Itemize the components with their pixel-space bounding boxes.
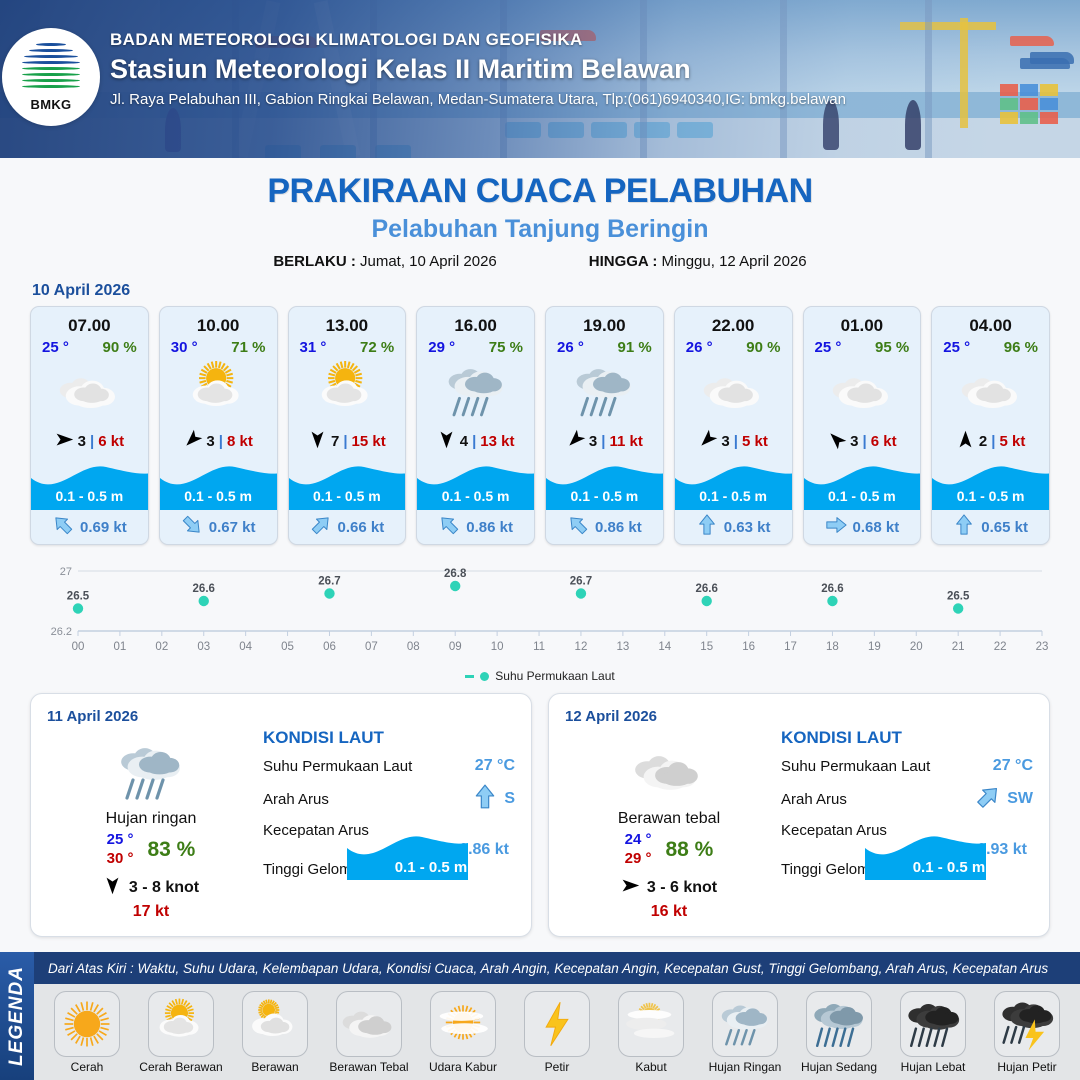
svg-text:22: 22	[994, 641, 1007, 653]
panel-condition: Hujan ringan	[51, 810, 251, 828]
card-humidity: 71 %	[231, 339, 265, 356]
wind-direction-arrow-icon	[956, 430, 975, 453]
card-wind-speed: 2	[979, 433, 987, 450]
daily-panels: 11 April 2026 Hujan ringan 25 ° 30 ° 83 …	[0, 683, 1080, 937]
card-gust: 6 kt	[98, 433, 124, 450]
legend-item-label: Petir	[511, 1060, 603, 1074]
card-temperature: 31 °	[300, 339, 327, 356]
svg-text:11: 11	[533, 641, 545, 653]
panel-wave-graphic	[865, 830, 1033, 886]
legend-item-label: Hujan Petir	[981, 1060, 1073, 1074]
svg-text:14: 14	[658, 641, 671, 653]
legend-item-label: Cerah Berawan	[135, 1060, 227, 1074]
page-subtitle: Pelabuhan Tanjung Beringin	[0, 215, 1080, 244]
page-banner: BMKG BADAN METEOROLOGI KLIMATOLOGI DAN G…	[0, 0, 1080, 158]
legenda-sidebar: LEGENDA	[0, 952, 34, 1080]
forecast-card: 01.00 25 ° 95 % 3 | 6 kt 0.1 - 0.5 m 0.6	[803, 306, 922, 545]
card-current-speed: 0.86 kt	[466, 519, 513, 536]
card-gust: 15 kt	[352, 433, 386, 450]
card-current-speed: 0.86 kt	[595, 519, 642, 536]
chart-legend: Suhu Permukaan Laut	[0, 669, 1080, 683]
panel-current-direction-arrow-icon	[472, 784, 498, 814]
daily-forecast-panel: 12 April 2026 Berawan tebal 24 ° 29 ° 88…	[548, 693, 1050, 937]
card-weather-berawan-icon	[675, 358, 792, 424]
current-direction-arrow-icon	[310, 514, 332, 540]
card-humidity: 95 %	[875, 339, 909, 356]
card-wave: 0.1 - 0.5 m	[417, 460, 534, 510]
svg-text:26.5: 26.5	[947, 591, 970, 603]
legend-kabut-icon	[618, 991, 684, 1057]
legend-footer: LEGENDA Dari Atas Kiri : Waktu, Suhu Uda…	[0, 952, 1080, 1080]
card-time: 01.00	[804, 307, 921, 336]
card-current-speed: 0.67 kt	[209, 519, 256, 536]
card-wind-speed: 4	[460, 433, 468, 450]
legend-udara-kabur-icon	[430, 991, 496, 1057]
svg-text:05: 05	[281, 641, 294, 653]
legend-cerah-berawan-icon	[148, 991, 214, 1057]
card-gust: 5 kt	[742, 433, 768, 450]
current-direction-arrow-icon	[696, 514, 718, 540]
card-weather-cerah-berawan-icon	[160, 358, 277, 424]
card-humidity: 90 %	[103, 339, 137, 356]
sea-condition-title: KONDISI LAUT	[781, 728, 1033, 748]
panel-condition: Berawan tebal	[569, 810, 769, 828]
panel-temp-max: 29 °	[625, 850, 652, 869]
card-temperature: 25 °	[42, 339, 69, 356]
wind-direction-arrow-icon	[437, 430, 456, 453]
card-wave: 0.1 - 0.5 m	[546, 460, 663, 510]
card-temperature: 30 °	[171, 339, 198, 356]
card-weather-berawan-icon	[932, 358, 1049, 424]
panel-date: 11 April 2026	[47, 708, 515, 725]
legend-item-label: Kabut	[605, 1060, 697, 1074]
card-humidity: 91 %	[618, 339, 652, 356]
wind-direction-arrow-icon	[183, 430, 202, 453]
svg-text:16: 16	[742, 641, 755, 653]
svg-text:26.7: 26.7	[570, 576, 592, 588]
legend-item-label: Cerah	[41, 1060, 133, 1074]
card-temperature: 25 °	[815, 339, 842, 356]
card-wave: 0.1 - 0.5 m	[289, 460, 406, 510]
legend-item-label: Hujan Sedang	[793, 1060, 885, 1074]
separator: |	[343, 433, 347, 450]
daily-forecast-panel: 11 April 2026 Hujan ringan 25 ° 30 ° 83 …	[30, 693, 532, 937]
legend-item: Cerah Berawan	[135, 991, 227, 1074]
panel-humidity: 83 %	[147, 838, 195, 862]
panel-wind-range: 3 - 8 knot	[129, 879, 199, 897]
card-current-speed: 0.65 kt	[981, 519, 1028, 536]
valid-from-label: BERLAKU :	[273, 253, 356, 270]
legend-item-label: Hujan Ringan	[699, 1060, 791, 1074]
forecast-card: 10.00 30 ° 71 % 3 | 8 kt 0.1 - 0.5 m 0.6…	[159, 306, 278, 545]
legend-hujan-petir-icon	[994, 991, 1060, 1057]
panel-wave-height: 0.1 - 0.5 m	[865, 859, 1033, 876]
current-direction-arrow-icon	[953, 514, 975, 540]
legend-item: Udara Kabur	[417, 991, 509, 1074]
legend-item-label: Berawan Tebal	[323, 1060, 415, 1074]
svg-text:18: 18	[826, 641, 839, 653]
legend-berawan-sun-icon	[242, 991, 308, 1057]
valid-from-value: Jumat, 10 April 2026	[360, 253, 497, 270]
panel-weather-berawan-tebal-icon	[569, 736, 769, 808]
card-weather-hujan-ringan-icon	[546, 358, 663, 424]
separator: |	[601, 433, 605, 450]
panel-temp-min: 24 °	[625, 831, 652, 850]
legend-line-icon	[465, 675, 474, 678]
card-wind-speed: 3	[721, 433, 729, 450]
legend-hujan-ringan-icon	[712, 991, 778, 1057]
current-direction-arrow-icon	[52, 514, 74, 540]
card-wave-height: 0.1 - 0.5 m	[804, 488, 921, 504]
card-current-speed: 0.63 kt	[724, 519, 771, 536]
card-time: 19.00	[546, 307, 663, 336]
legend-item: Hujan Sedang	[793, 991, 885, 1074]
card-wind-speed: 3	[850, 433, 858, 450]
wind-direction-arrow-icon	[827, 430, 846, 453]
sea-condition-title: KONDISI LAUT	[263, 728, 515, 748]
svg-text:09: 09	[449, 641, 462, 653]
svg-text:10: 10	[491, 641, 504, 653]
card-time: 16.00	[417, 307, 534, 336]
day1-date: 10 April 2026	[32, 282, 1080, 300]
legend-note: Dari Atas Kiri : Waktu, Suhu Udara, Kele…	[34, 952, 1080, 984]
card-time: 22.00	[675, 307, 792, 336]
valid-from: BERLAKU : Jumat, 10 April 2026	[273, 253, 496, 270]
bmkg-logo: BMKG	[2, 28, 100, 126]
card-weather-hujan-ringan-icon	[417, 358, 534, 424]
wind-direction-arrow-icon	[308, 430, 327, 453]
panel-weather-hujan-ringan-icon	[51, 736, 251, 808]
card-wave-height: 0.1 - 0.5 m	[932, 488, 1049, 504]
svg-text:02: 02	[155, 641, 168, 653]
card-temperature: 26 °	[686, 339, 713, 356]
panel-wind-direction-arrow-icon	[621, 876, 640, 900]
card-gust: 13 kt	[480, 433, 514, 450]
svg-text:21: 21	[952, 641, 965, 653]
legend-item: Hujan Lebat	[887, 991, 979, 1074]
svg-text:26.2: 26.2	[51, 626, 72, 638]
legend-item-label: Hujan Lebat	[887, 1060, 979, 1074]
legend-item-label: Berawan	[229, 1060, 321, 1074]
card-humidity: 75 %	[489, 339, 523, 356]
valid-until-label: HINGGA :	[589, 253, 658, 270]
card-wave: 0.1 - 0.5 m	[160, 460, 277, 510]
svg-text:17: 17	[784, 641, 797, 653]
card-wave-height: 0.1 - 0.5 m	[546, 488, 663, 504]
legend-item: Petir	[511, 991, 603, 1074]
sst-value: 27 °C	[993, 757, 1033, 775]
forecast-card: 07.00 25 ° 90 % 3 | 6 kt 0.1 - 0.5 m 0.6	[30, 306, 149, 545]
svg-text:26.8: 26.8	[444, 568, 467, 580]
legend-item: Berawan	[229, 991, 321, 1074]
legend-cerah-icon	[54, 991, 120, 1057]
card-wave-height: 0.1 - 0.5 m	[31, 488, 148, 504]
panel-wind-direction-arrow-icon	[103, 876, 122, 900]
card-temperature: 29 °	[428, 339, 455, 356]
svg-text:07: 07	[365, 641, 378, 653]
sst-label: Suhu Permukaan Laut	[263, 758, 412, 775]
legend-icon-list: Cerah Cerah Berawan Berawan Berawan Teba…	[34, 984, 1080, 1080]
legend-hujan-sedang-icon	[806, 991, 872, 1057]
panel-humidity: 88 %	[665, 838, 713, 862]
current-direction-label: Arah Arus	[263, 791, 329, 808]
card-time: 04.00	[932, 307, 1049, 336]
wind-direction-arrow-icon	[698, 430, 717, 453]
forecast-card: 19.00 26 ° 91 % 3 | 11 kt 0.1 - 0.5 m 0.	[545, 306, 664, 545]
card-weather-berawan-icon	[804, 358, 921, 424]
current-direction-arrow-icon	[825, 514, 847, 540]
card-temperature: 26 °	[557, 339, 584, 356]
svg-text:26.7: 26.7	[318, 576, 340, 588]
card-wave: 0.1 - 0.5 m	[804, 460, 921, 510]
sst-value: 27 °C	[475, 757, 515, 775]
sst-label: Suhu Permukaan Laut	[781, 758, 930, 775]
panel-date: 12 April 2026	[565, 708, 1033, 725]
card-humidity: 96 %	[1004, 339, 1038, 356]
card-gust: 6 kt	[871, 433, 897, 450]
card-wind-speed: 3	[78, 433, 86, 450]
card-time: 13.00	[289, 307, 406, 336]
svg-text:06: 06	[323, 641, 336, 653]
current-direction-value: S	[504, 790, 515, 808]
panel-temp-min: 25 °	[107, 831, 134, 850]
card-time: 10.00	[160, 307, 277, 336]
card-wind-speed: 3	[589, 433, 597, 450]
card-humidity: 72 %	[360, 339, 394, 356]
legenda-label: LEGENDA	[6, 966, 28, 1066]
card-wave-height: 0.1 - 0.5 m	[289, 488, 406, 504]
card-wave: 0.1 - 0.5 m	[31, 460, 148, 510]
panel-temp-max: 30 °	[107, 850, 134, 869]
svg-text:04: 04	[239, 641, 252, 653]
current-direction-arrow-icon	[567, 514, 589, 540]
svg-text:26.5: 26.5	[67, 591, 90, 603]
validity-row: BERLAKU : Jumat, 10 April 2026 HINGGA : …	[0, 253, 1080, 270]
svg-text:08: 08	[407, 641, 420, 653]
legend-berawan-tebal-icon	[336, 991, 402, 1057]
wind-direction-arrow-icon	[55, 430, 74, 453]
card-weather-berawan-icon	[31, 358, 148, 424]
card-current-speed: 0.66 kt	[338, 519, 385, 536]
card-humidity: 90 %	[746, 339, 780, 356]
card-current-speed: 0.68 kt	[853, 519, 900, 536]
valid-until: HINGGA : Minggu, 12 April 2026	[589, 253, 807, 270]
legend-item-label: Udara Kabur	[417, 1060, 509, 1074]
svg-text:01: 01	[114, 641, 127, 653]
panel-gust: 16 kt	[569, 903, 769, 921]
card-wave-height: 0.1 - 0.5 m	[417, 488, 534, 504]
station-address: Jl. Raya Pelabuhan III, Gabion Ringkai B…	[110, 91, 846, 108]
separator: |	[991, 433, 995, 450]
title-block: PRAKIRAAN CUACA PELABUHAN Pelabuhan Tanj…	[0, 172, 1080, 270]
panel-gust: 17 kt	[51, 903, 251, 921]
legend-item: Hujan Petir	[981, 991, 1073, 1074]
separator: |	[219, 433, 223, 450]
card-wind-speed: 3	[206, 433, 214, 450]
svg-text:26.6: 26.6	[821, 583, 843, 595]
forecast-card: 13.00 31 ° 72 % 7 | 15 kt 0.1 - 0.5 m 0.…	[288, 306, 407, 545]
card-wind-speed: 7	[331, 433, 339, 450]
legend-item: Kabut	[605, 991, 697, 1074]
svg-text:23: 23	[1036, 641, 1049, 653]
legend-item: Cerah	[41, 991, 133, 1074]
card-gust: 8 kt	[227, 433, 253, 450]
card-weather-cerah-berawan-icon	[289, 358, 406, 424]
current-direction-arrow-icon	[438, 514, 460, 540]
card-wave: 0.1 - 0.5 m	[932, 460, 1049, 510]
panel-wave-graphic	[347, 830, 515, 886]
sst-chart: 2726.20001020304050607080910111213141516…	[30, 559, 1050, 667]
current-direction-label: Arah Arus	[781, 791, 847, 808]
svg-text:13: 13	[616, 641, 629, 653]
legend-petir-icon	[524, 991, 590, 1057]
separator: |	[90, 433, 94, 450]
card-temperature: 25 °	[943, 339, 970, 356]
logo-text: BMKG	[31, 97, 72, 112]
card-current-speed: 0.69 kt	[80, 519, 127, 536]
legend-hujan-lebat-icon	[900, 991, 966, 1057]
legend-item: Hujan Ringan	[699, 991, 791, 1074]
svg-text:27: 27	[60, 566, 72, 578]
svg-text:03: 03	[197, 641, 210, 653]
card-gust: 5 kt	[999, 433, 1025, 450]
card-gust: 11 kt	[609, 433, 642, 450]
hourly-forecast-strip: 07.00 25 ° 90 % 3 | 6 kt 0.1 - 0.5 m 0.6	[0, 306, 1080, 545]
svg-text:00: 00	[72, 641, 85, 653]
svg-text:26.6: 26.6	[193, 583, 215, 595]
card-wave: 0.1 - 0.5 m	[675, 460, 792, 510]
forecast-card: 16.00 29 ° 75 % 4 | 13 kt 0.1 - 0.5 m 0.	[416, 306, 535, 545]
legend-item: Berawan Tebal	[323, 991, 415, 1074]
separator: |	[734, 433, 738, 450]
current-direction-value: SW	[1007, 790, 1033, 808]
svg-text:26.6: 26.6	[696, 583, 718, 595]
panel-current-direction-arrow-icon	[975, 784, 1001, 814]
current-direction-arrow-icon	[181, 514, 203, 540]
svg-text:20: 20	[910, 641, 923, 653]
legend-dot-icon	[480, 672, 489, 681]
chart-legend-label: Suhu Permukaan Laut	[495, 669, 614, 683]
separator: |	[863, 433, 867, 450]
agency-name: BADAN METEOROLOGI KLIMATOLOGI DAN GEOFIS…	[110, 30, 846, 50]
valid-until-value: Minggu, 12 April 2026	[662, 253, 807, 270]
forecast-card: 22.00 26 ° 90 % 3 | 5 kt 0.1 - 0.5 m 0.6	[674, 306, 793, 545]
panel-wave-height: 0.1 - 0.5 m	[347, 859, 515, 876]
logo-green-icon	[22, 67, 80, 95]
wind-direction-arrow-icon	[566, 430, 585, 453]
card-wave-height: 0.1 - 0.5 m	[675, 488, 792, 504]
forecast-card: 04.00 25 ° 96 % 2 | 5 kt 0.1 - 0.5 m 0.6	[931, 306, 1050, 545]
panel-wind-range: 3 - 6 knot	[647, 879, 717, 897]
svg-text:19: 19	[868, 641, 881, 653]
page-title: PRAKIRAAN CUACA PELABUHAN	[0, 172, 1080, 211]
logo-arcs-icon	[22, 43, 80, 65]
separator: |	[472, 433, 476, 450]
station-name: Stasiun Meteorologi Kelas II Maritim Bel…	[110, 54, 846, 85]
card-time: 07.00	[31, 307, 148, 336]
svg-text:15: 15	[700, 641, 713, 653]
card-wave-height: 0.1 - 0.5 m	[160, 488, 277, 504]
svg-text:12: 12	[575, 641, 588, 653]
